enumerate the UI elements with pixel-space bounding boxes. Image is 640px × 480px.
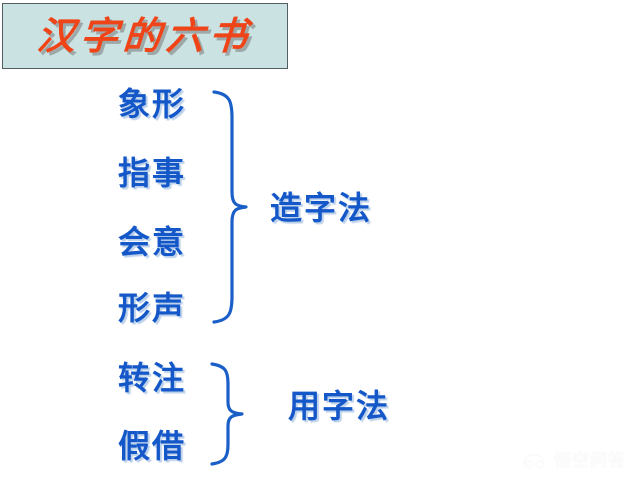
list-item-zhuanzhu: 转注 [118,362,186,394]
list-item-xiangxing: 象形 [118,88,186,120]
page-title: 汉字的六书 [36,17,254,55]
watermark: 悟空问答 [521,452,626,470]
list-item-zhishi: 指事 [118,157,186,189]
list-item-huiyi: 会意 [118,226,186,258]
group-label-yong-zi-fa: 用字法 [288,390,390,422]
brace-yong-zi-fa [206,360,250,468]
watermark-text: 悟空问答 [554,453,626,470]
brace-zao-zi-fa [208,88,254,326]
wukong-logo-icon [521,452,547,470]
list-item-xingsheng: 形声 [118,292,186,324]
title-box: 汉字的六书 [2,3,288,69]
slide-canvas: 汉字的六书 象形 指事 会意 形声 造字法 转注 假借 用字法 悟空问答 [0,0,640,480]
list-item-jiajie: 假借 [118,430,186,462]
group-label-zao-zi-fa: 造字法 [270,192,372,224]
